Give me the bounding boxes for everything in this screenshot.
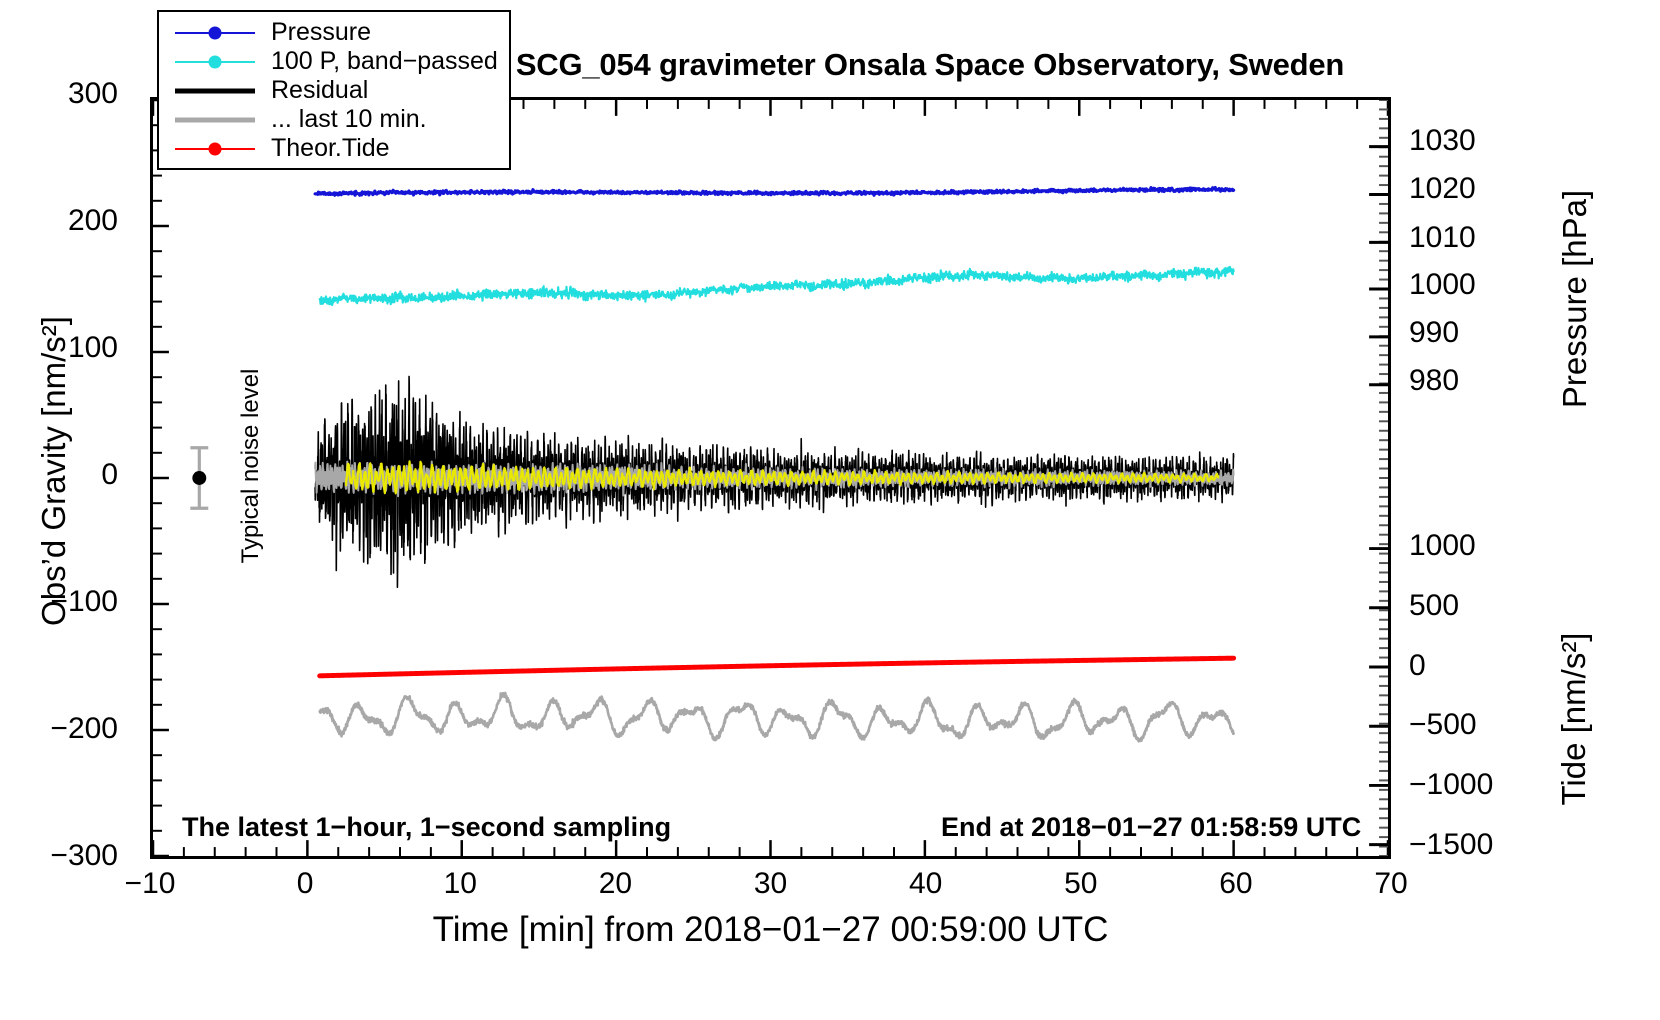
plot-area (150, 97, 1391, 859)
x-axis-title: Time [min] from 2018−01−27 00:59:00 UTC (150, 910, 1391, 950)
y-tick-pressure-5: 980 (1409, 364, 1459, 398)
y-tick-pressure-2: 1010 (1409, 221, 1476, 255)
y-tick-pressure-0: 1030 (1409, 124, 1476, 158)
legend-line-icon (171, 81, 259, 101)
y-tick-tide-0: 1000 (1409, 529, 1476, 563)
legend-item-4[interactable]: Theor.Tide (159, 134, 509, 163)
annotation-noise-level: Typical noise level (237, 336, 265, 596)
x-tick-8: 70 (1331, 867, 1451, 901)
noise-center-dot (192, 471, 206, 485)
legend-label-4: Theor.Tide (271, 134, 390, 163)
y-tick-gravity-0: 300 (18, 77, 118, 111)
legend-line-dot-icon (171, 23, 259, 43)
series-bandpassed-pressure (320, 267, 1234, 305)
chart-page: SCG_054 gravimeter Onsala Space Observat… (0, 0, 1660, 1020)
legend-line-icon (171, 110, 259, 130)
x-tick-7: 60 (1176, 867, 1296, 901)
legend-label-0: Pressure (271, 18, 371, 47)
legend-item-0[interactable]: Pressure (159, 18, 509, 47)
series-theoretical-tide (320, 658, 1234, 676)
legend-label-3: ... last 10 min. (271, 105, 427, 134)
legend-line-dot-icon (171, 52, 259, 72)
y-axis-left-title: Obs’d Gravity [nm/s²] (35, 211, 73, 731)
series-pressure (315, 188, 1234, 196)
x-tick-0: −10 (90, 867, 210, 901)
y-tick-tide-5: −1500 (1409, 828, 1493, 862)
x-tick-3: 20 (555, 867, 675, 901)
x-tick-4: 30 (711, 867, 831, 901)
legend-item-1[interactable]: 100 P, band−passed (159, 47, 509, 76)
x-tick-2: 10 (400, 867, 520, 901)
series-last10min-tide-trace (320, 693, 1234, 741)
y-tick-tide-2: 0 (1409, 649, 1426, 683)
legend[interactable]: Pressure100 P, band−passedResidual... la… (157, 10, 511, 170)
y-axis-tide-title: Tide [nm/s²] (1555, 489, 1593, 949)
y-axis-pressure-title: Pressure [hPa] (1556, 39, 1594, 559)
legend-item-2[interactable]: Residual (159, 76, 509, 105)
x-tick-5: 40 (866, 867, 986, 901)
y-tick-tide-1: 500 (1409, 589, 1459, 623)
y-tick-pressure-4: 990 (1409, 316, 1459, 350)
plot-canvas (153, 100, 1388, 856)
legend-label-2: Residual (271, 76, 368, 105)
legend-line-dot-icon (171, 139, 259, 159)
legend-item-3[interactable]: ... last 10 min. (159, 105, 509, 134)
y-tick-pressure-3: 1000 (1409, 268, 1476, 302)
page-title: SCG_054 gravimeter Onsala Space Observat… (430, 47, 1430, 83)
y-tick-tide-4: −1000 (1409, 768, 1493, 802)
x-tick-1: 0 (245, 867, 365, 901)
legend-label-1: 100 P, band−passed (271, 47, 498, 76)
y-tick-pressure-1: 1020 (1409, 172, 1476, 206)
annotation-latest-sampling: The latest 1−hour, 1−second sampling (182, 812, 671, 843)
x-tick-6: 50 (1021, 867, 1141, 901)
y-tick-tide-3: −500 (1409, 708, 1477, 742)
